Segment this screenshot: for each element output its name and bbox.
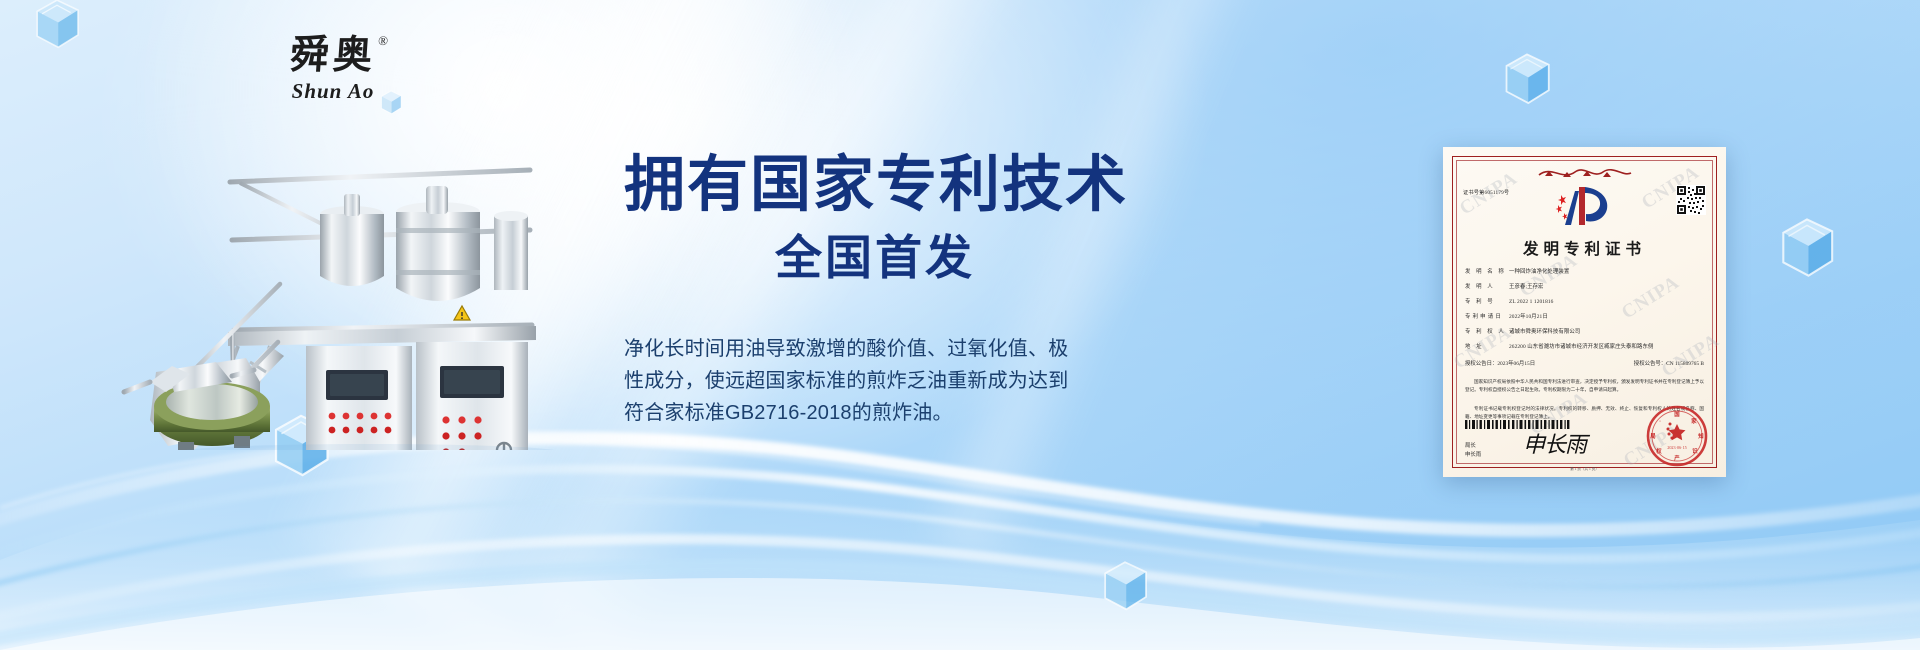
product-machine-illustration xyxy=(120,120,640,450)
field-value: ZL 2022 1 1201816 xyxy=(1509,299,1704,306)
certificate-paragraph-1: 国家知识产权局依照中华人民共和国专利法进行审查，决定授予专利权，颁发发明专利证书… xyxy=(1465,378,1704,394)
certificate-field-row: 专 利 号 ZL 2022 1 1201816 xyxy=(1465,299,1704,306)
certificate-signoff: 局长 申长雨 xyxy=(1465,442,1481,459)
certificate-fields: 发 明 名 称 一种回炸油净化处理装置 发 明 人 王彦春;王存宏 专 利 号 … xyxy=(1465,269,1704,421)
brand-logo-chinese: 舜奥® xyxy=(289,36,378,77)
field-value: 2022年10月21日 xyxy=(1509,314,1704,321)
ice-cube-icon-4 xyxy=(1770,212,1844,286)
ice-cube-icon-1 xyxy=(26,0,88,56)
headline-primary: 拥有国家专利技术 xyxy=(624,150,1144,218)
brand-logo-english: Shun Ao xyxy=(268,79,398,104)
headline-secondary: 全国首发 xyxy=(624,230,1144,286)
svg-text:产: 产 xyxy=(1674,454,1680,462)
certificate-footnote: 第 1 页（共 1 页） xyxy=(1463,467,1706,472)
qr-code-icon xyxy=(1676,185,1706,215)
ice-cube-icon-3 xyxy=(1495,48,1559,112)
cnipa-crest-icon xyxy=(1555,185,1615,227)
promo-banner: 舜奥® Shun Ao xyxy=(0,0,1920,650)
svg-text:权: 权 xyxy=(1655,447,1662,455)
grant-number: 授权公告号：CN 115809765 B xyxy=(1634,359,1704,367)
director-label: 局长 xyxy=(1465,442,1481,450)
caution-icon xyxy=(454,306,470,320)
svg-text:2023·06·15: 2023·06·15 xyxy=(1667,445,1687,450)
marketing-copy: 拥有国家专利技术 全国首发 净化长时间用油导致激增的酸价值、过氧化值、极性成分，… xyxy=(624,150,1144,430)
certificate-field-row: 专利申请日 2022年10月21日 xyxy=(1465,314,1704,321)
brand-logo[interactable]: 舜奥® Shun Ao xyxy=(268,36,398,104)
certificate-field-row: 发 明 名 称 一种回炸油净化处理装置 xyxy=(1465,269,1704,276)
field-value: 王彦春;王存宏 xyxy=(1509,284,1704,291)
field-value: 262200 山东省潍坊市诸城市经济开发区臧家庄头泰和路东侧 xyxy=(1509,344,1704,351)
certificate-grant-row: 授权公告日：2023年06月15日 授权公告号：CN 115809765 B xyxy=(1465,359,1704,367)
certificate-title: 发明专利证书 xyxy=(1463,237,1706,259)
certificate-ornament xyxy=(1537,167,1633,181)
svg-text:识: 识 xyxy=(1692,447,1698,455)
field-label: 地 址 xyxy=(1465,344,1509,351)
field-label: 专 利 号 xyxy=(1465,299,1509,306)
director-name: 申长雨 xyxy=(1465,451,1481,459)
field-label: 专 利 权 人 xyxy=(1465,329,1509,336)
certificate-field-row: 专 利 权 人 诸城市舜奥环保科技有限公司 xyxy=(1465,329,1704,336)
body-paragraph: 净化长时间用油导致激增的酸价值、过氧化值、极性成分，使远超国家标准的煎炸乏油重新… xyxy=(624,333,1079,430)
svg-text:局: 局 xyxy=(1649,432,1656,440)
director-signature: 申长雨 xyxy=(1523,427,1586,459)
certificate-field-row: 地 址 262200 山东省潍坊市诸城市经济开发区臧家庄头泰和路东侧 xyxy=(1465,344,1704,351)
registered-trademark-icon: ® xyxy=(378,34,393,48)
field-value: 一种回炸油净化处理装置 xyxy=(1509,269,1704,276)
svg-text:家: 家 xyxy=(1691,417,1697,425)
svg-text:国: 国 xyxy=(1674,410,1680,418)
svg-text:·: · xyxy=(1659,419,1661,425)
field-label: 发 明 名 称 xyxy=(1465,269,1509,276)
field-label: 发 明 人 xyxy=(1465,284,1509,291)
field-value: 诸城市舜奥环保科技有限公司 xyxy=(1509,329,1704,336)
field-label: 专利申请日 xyxy=(1465,314,1509,321)
official-seal-icon: 国 家 知 识 产 权 局 · 2023·06·15 xyxy=(1646,405,1708,467)
grant-date: 授权公告日：2023年06月15日 xyxy=(1465,359,1535,367)
certificate-field-row: 发 明 人 王彦春;王存宏 xyxy=(1465,284,1704,291)
svg-text:知: 知 xyxy=(1698,432,1704,440)
certificate-serial-number: 证书号第6051179号 xyxy=(1463,189,1509,196)
patent-certificate[interactable]: CNIPA CNIPA CNIPA CNIPA CNIPA CNIPA CNIP… xyxy=(1443,147,1726,477)
